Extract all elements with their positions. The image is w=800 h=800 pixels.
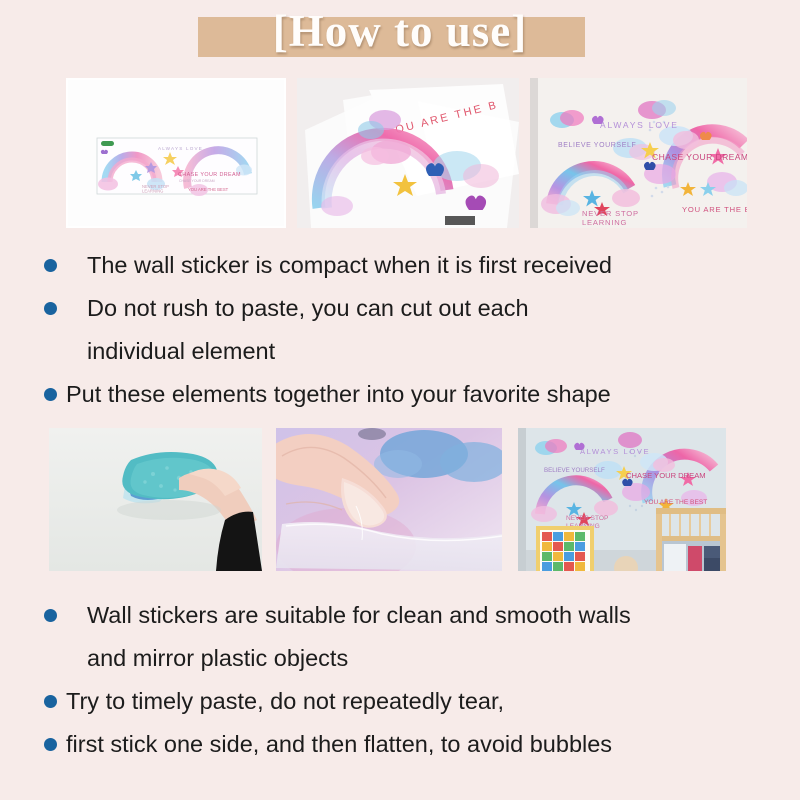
bullet-icon [44, 609, 57, 622]
page-header: [How to use] [0, 0, 800, 70]
list-item: Try to timely paste, do not repeatedly t… [0, 680, 800, 723]
svg-text:LEARNING: LEARNING [142, 189, 163, 194]
svg-text:ALWAYS LOVE: ALWAYS LOVE [158, 146, 203, 151]
svg-text:ALWAYS LOVE: ALWAYS LOVE [600, 120, 679, 130]
svg-text:NEVER STOP: NEVER STOP [566, 515, 609, 522]
list-item: Do not rush to paste, you can cut out ea… [0, 287, 800, 330]
photo-clean-wall [49, 428, 262, 571]
svg-text:ALWAYS LOVE: ALWAYS LOVE [580, 447, 650, 456]
list-item-label: Do not rush to paste, you can cut out ea… [87, 295, 529, 322]
list-item-continuation: individual element [0, 330, 800, 373]
list-item-label: The wall sticker is compact when it is f… [87, 252, 612, 279]
list-item: first stick one side, and then flatten, … [0, 723, 800, 766]
svg-text:CHASE YOUR DREAM: CHASE YOUR DREAM [652, 152, 747, 162]
photo-applied-wall: ALWAYS LOVE BELIEVE YOURSELF CHASE YOUR … [530, 78, 747, 228]
svg-text:BELIEVE YOURSELF: BELIEVE YOURSELF [544, 467, 605, 474]
list-item-label: and mirror plastic objects [87, 645, 348, 672]
svg-text:YOU ARE THE BEST: YOU ARE THE BEST [682, 205, 747, 214]
instructions-list-bottom: Wall stickers are suitable for clean and… [0, 594, 800, 766]
bullet-icon [44, 388, 57, 401]
svg-text:CHASE YOUR DREAM: CHASE YOUR DREAM [179, 179, 215, 183]
list-item: The wall sticker is compact when it is f… [0, 244, 800, 287]
list-item-label: Wall stickers are suitable for clean and… [87, 602, 631, 629]
photo-kids-room: ALWAYS LOVE BELIEVE YOURSELF CHASE YOUR … [518, 428, 726, 571]
list-item-continuation: and mirror plastic objects [0, 637, 800, 680]
list-item-label: first stick one side, and then flatten, … [66, 731, 612, 758]
bullet-icon [44, 738, 57, 751]
svg-text:CHASE YOUR DREAM: CHASE YOUR DREAM [626, 471, 706, 480]
photo-cut-elements: OU ARE THE B [297, 78, 519, 228]
list-item-label: Try to timely paste, do not repeatedly t… [66, 688, 504, 715]
instructions-list-top: The wall sticker is compact when it is f… [0, 244, 800, 416]
list-item-label: individual element [87, 338, 275, 365]
bullet-icon [44, 259, 57, 272]
svg-text:LEARNING: LEARNING [582, 218, 627, 227]
photo-sticker-sheet: ALWAYS LOVE CHASE YOUR DREAM CHASE YOUR … [66, 78, 286, 228]
svg-text:YOU ARE THE BEST: YOU ARE THE BEST [644, 499, 707, 506]
bullet-icon [44, 695, 57, 708]
photo-peel-film [276, 428, 502, 571]
bullet-icon [44, 302, 57, 315]
svg-text:BELIEVE YOURSELF: BELIEVE YOURSELF [558, 142, 636, 149]
list-item-label: Put these elements together into your fa… [66, 381, 611, 408]
svg-text:NEVER STOP: NEVER STOP [582, 209, 639, 218]
svg-text:YOU ARE THE BEST: YOU ARE THE BEST [188, 187, 229, 192]
list-item: Put these elements together into your fa… [0, 373, 800, 416]
svg-text:CHASE YOUR DREAM: CHASE YOUR DREAM [178, 172, 241, 178]
page-title: [How to use] [0, 0, 800, 62]
list-item: Wall stickers are suitable for clean and… [0, 594, 800, 637]
